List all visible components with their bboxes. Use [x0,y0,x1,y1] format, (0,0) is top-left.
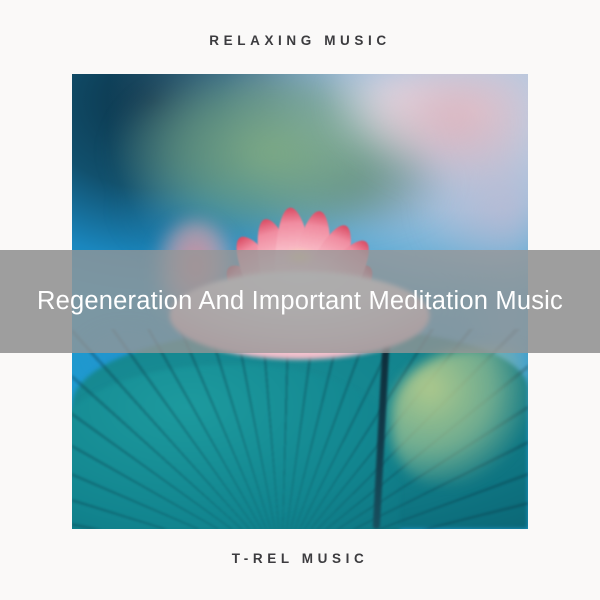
bottom-label: T-REL MUSIC [0,551,600,566]
album-cover: RELAXING MUSIC Regeneration And Importan [0,0,600,600]
album-title: Regeneration And Important Meditation Mu… [37,289,563,315]
top-label: RELAXING MUSIC [0,33,600,48]
title-band: Regeneration And Important Meditation Mu… [0,250,600,353]
